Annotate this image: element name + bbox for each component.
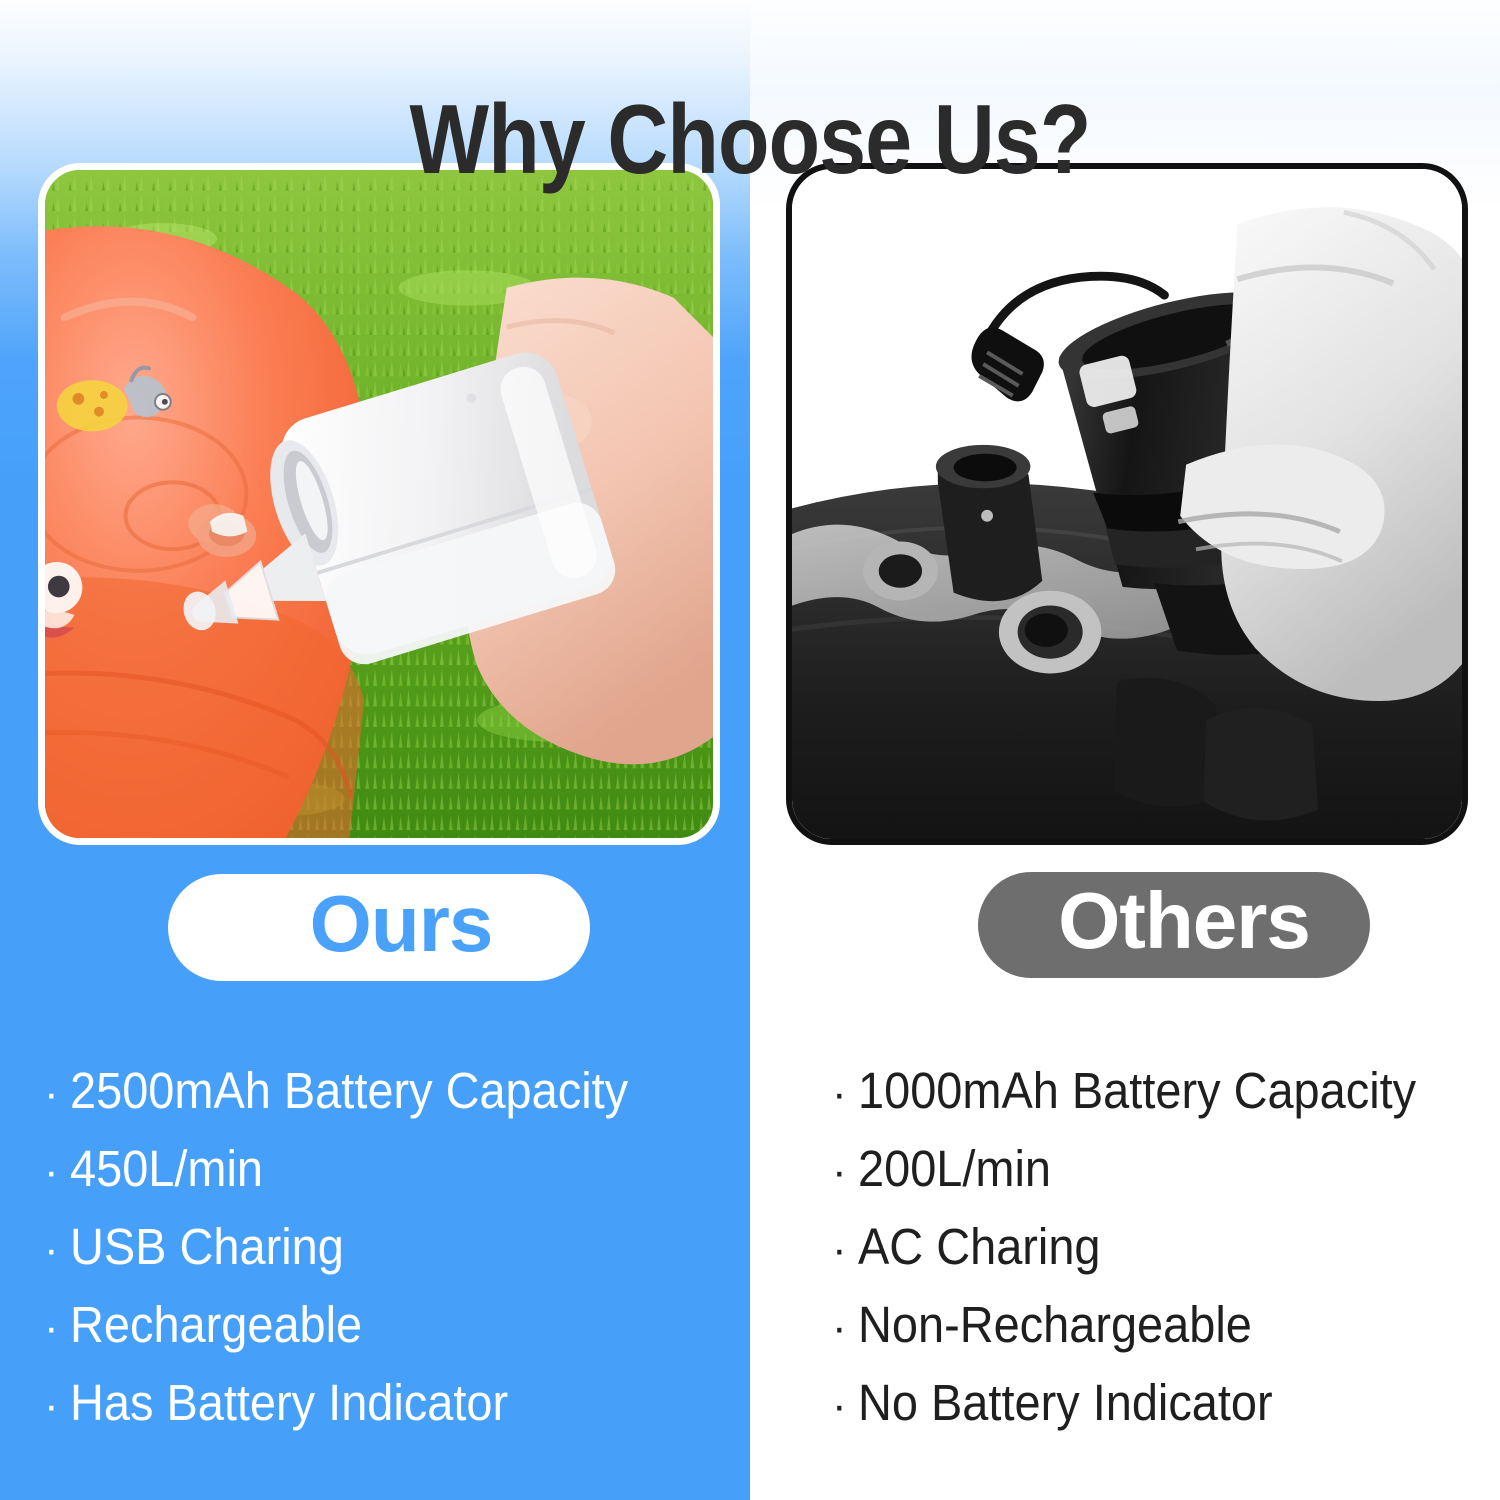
- others-feature-list: · 1000mAh Battery Capacity · 200L/min · …: [832, 1052, 1482, 1442]
- list-item-label: Has Battery Indicator: [70, 1364, 508, 1442]
- list-item: · 1000mAh Battery Capacity: [832, 1052, 1482, 1130]
- list-item-label: Rechargeable: [70, 1286, 362, 1364]
- bullet-icon: ·: [832, 1211, 858, 1289]
- bullet-icon: ·: [832, 1055, 858, 1133]
- others-badge: Others: [978, 872, 1370, 978]
- list-item-label: 450L/min: [70, 1130, 263, 1208]
- page-title: Why Choose Us?: [105, 88, 1395, 191]
- bullet-icon: ·: [44, 1055, 70, 1133]
- others-badge-label: Others: [1058, 881, 1310, 969]
- list-item-label: No Battery Indicator: [858, 1364, 1273, 1442]
- list-item-label: Non-Rechargeable: [858, 1286, 1252, 1364]
- ours-badge-label: Ours: [310, 884, 493, 972]
- list-item: · Rechargeable: [44, 1286, 734, 1364]
- bullet-icon: ·: [832, 1133, 858, 1211]
- others-product-photo: [786, 163, 1468, 845]
- list-item-label: 200L/min: [858, 1130, 1051, 1208]
- ours-badge: Ours: [168, 874, 590, 981]
- bullet-icon: ·: [44, 1133, 70, 1211]
- list-item-label: USB Charing: [70, 1208, 344, 1286]
- ours-product-photo: [38, 163, 720, 845]
- bullet-icon: ·: [44, 1367, 70, 1445]
- list-item-label: AC Charing: [858, 1208, 1101, 1286]
- list-item-label: 2500mAh Battery Capacity: [70, 1052, 628, 1130]
- bullet-icon: ·: [44, 1211, 70, 1289]
- list-item: · Non-Rechargeable: [832, 1286, 1482, 1364]
- infographic-page: Why Choose Us?: [0, 0, 1500, 1500]
- bullet-icon: ·: [832, 1367, 858, 1445]
- list-item: · AC Charing: [832, 1208, 1482, 1286]
- list-item-label: 1000mAh Battery Capacity: [858, 1052, 1416, 1130]
- list-item: · 2500mAh Battery Capacity: [44, 1052, 734, 1130]
- list-item: · Has Battery Indicator: [44, 1364, 734, 1442]
- list-item: · 200L/min: [832, 1130, 1482, 1208]
- bullet-icon: ·: [832, 1289, 858, 1367]
- list-item: · 450L/min: [44, 1130, 734, 1208]
- ours-feature-list: · 2500mAh Battery Capacity · 450L/min · …: [44, 1052, 734, 1442]
- list-item: · USB Charing: [44, 1208, 734, 1286]
- ours-photo-illustration: [45, 170, 713, 838]
- others-photo-illustration: [792, 169, 1462, 839]
- list-item: · No Battery Indicator: [832, 1364, 1482, 1442]
- bullet-icon: ·: [44, 1289, 70, 1367]
